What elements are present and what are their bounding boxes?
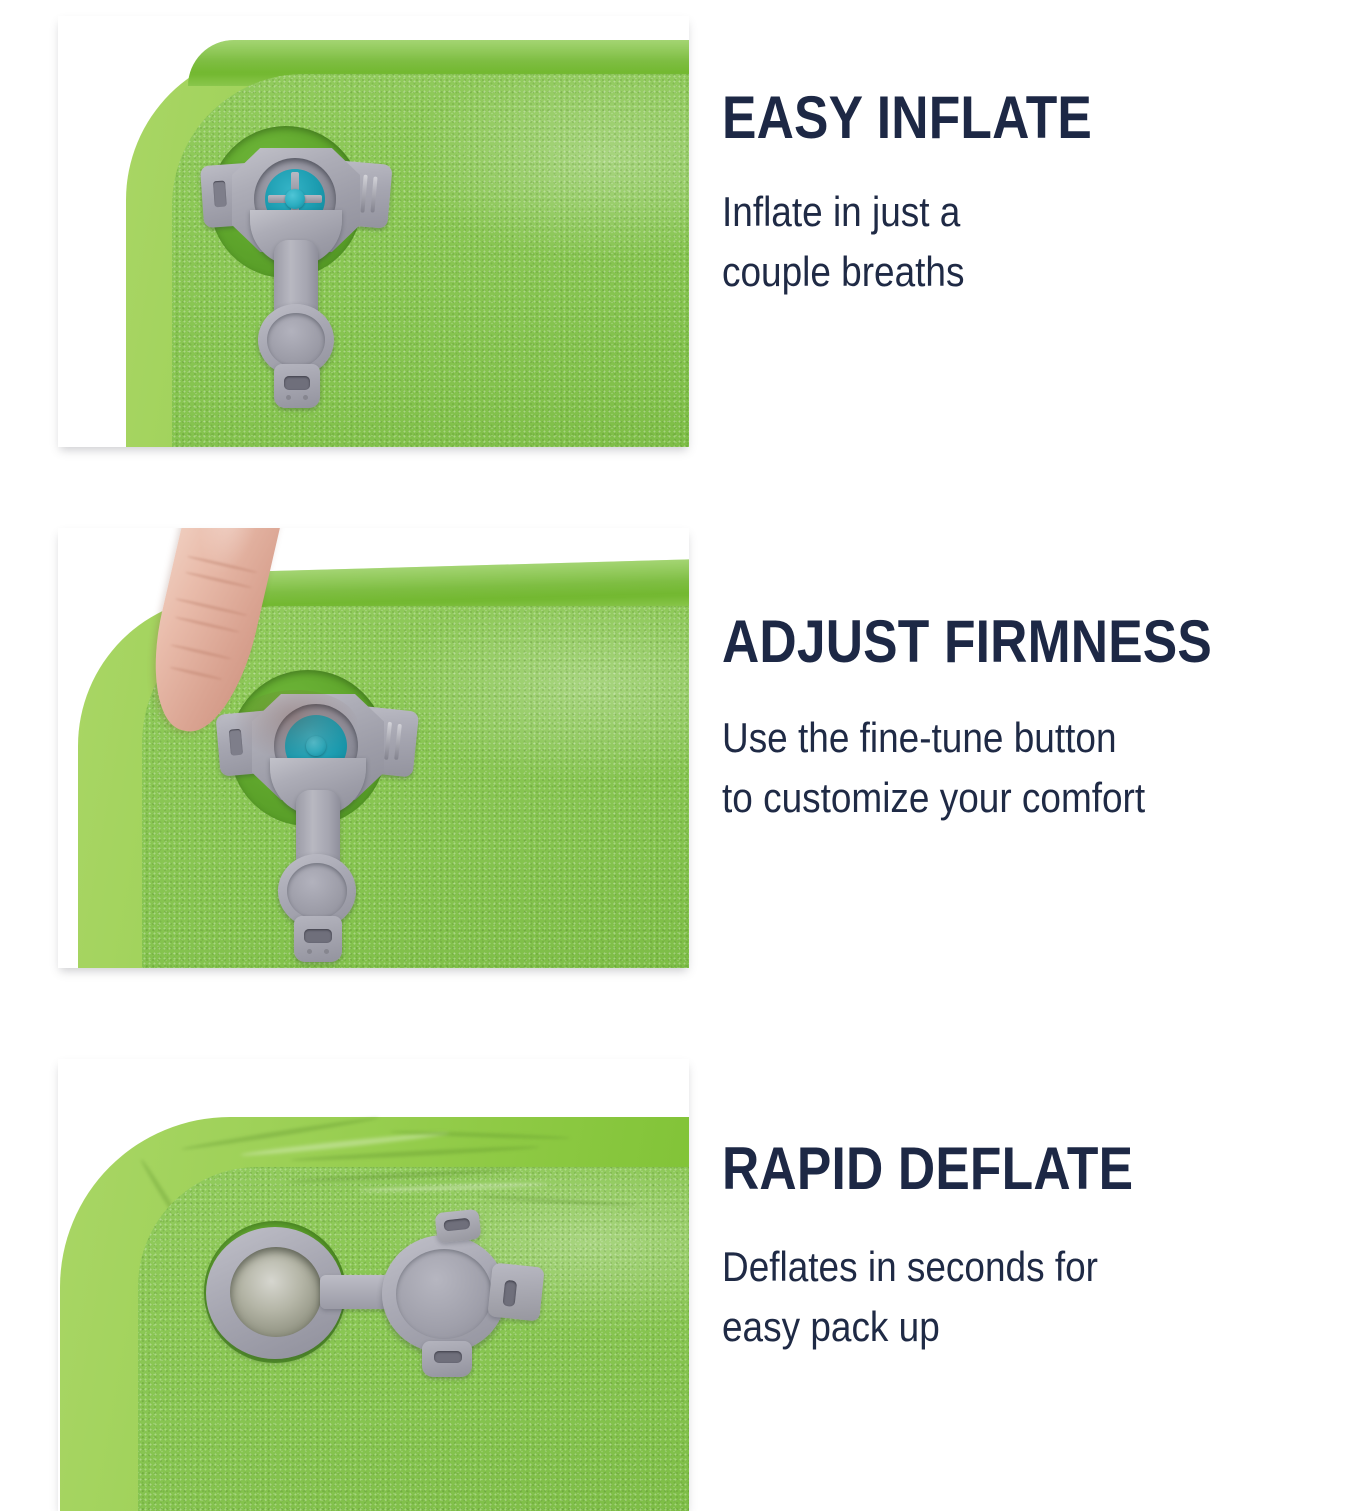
- deflation-valve-throat: [230, 1247, 322, 1337]
- feature-row-rapid-deflate: RAPID DEFLATE Deflates in seconds for ea…: [0, 1043, 1359, 1500]
- feature-body-adjust-firmness: Use the fine-tune button to customize yo…: [722, 708, 1283, 827]
- feature-body-line: easy pack up: [722, 1303, 940, 1350]
- feature-photo-adjust-firmness: [58, 528, 689, 968]
- valve-tether-tab: [274, 364, 320, 408]
- feature-text-adjust-firmness: ADJUST FIRMNESS Use the fine-tune button…: [722, 612, 1359, 827]
- valve-anchor-ear: [487, 1262, 544, 1321]
- feature-body-rapid-deflate: Deflates in seconds for easy pack up: [722, 1237, 1283, 1356]
- feature-row-adjust-firmness: ADJUST FIRMNESS Use the fine-tune button…: [0, 512, 1359, 1017]
- feature-photo-rapid-deflate: [58, 1059, 689, 1511]
- feature-heading-adjust-firmness: ADJUST FIRMNESS: [722, 612, 1270, 672]
- valve-cap-open: [382, 1235, 506, 1353]
- feature-heading-easy-inflate: EASY INFLATE: [722, 88, 1270, 148]
- valve-cap-bottom-tab: [422, 1341, 472, 1377]
- valve-wing-slot: [213, 181, 227, 208]
- feature-body-line: Deflates in seconds for: [722, 1243, 1098, 1290]
- feature-text-rapid-deflate: RAPID DEFLATE Deflates in seconds for ea…: [722, 1139, 1359, 1356]
- valve-cap-top-loop: [435, 1209, 482, 1243]
- feature-body-line: to customize your comfort: [722, 774, 1145, 821]
- valve-assembly: [198, 136, 398, 416]
- feature-body-easy-inflate: Inflate in just a couple breaths: [722, 182, 1283, 301]
- feature-body-line: couple breaths: [722, 248, 964, 295]
- feature-body-line: Use the fine-tune button: [722, 714, 1117, 761]
- fine-tune-button: [285, 189, 305, 209]
- valve-tether-tab: [294, 916, 342, 962]
- feature-row-easy-inflate: EASY INFLATE Inflate in just a couple br…: [0, 0, 1359, 500]
- feature-body-line: Inflate in just a: [722, 188, 960, 235]
- feature-heading-rapid-deflate: RAPID DEFLATE: [722, 1139, 1270, 1199]
- feature-photo-easy-inflate: [58, 16, 689, 447]
- feature-text-easy-inflate: EASY INFLATE Inflate in just a couple br…: [722, 88, 1359, 301]
